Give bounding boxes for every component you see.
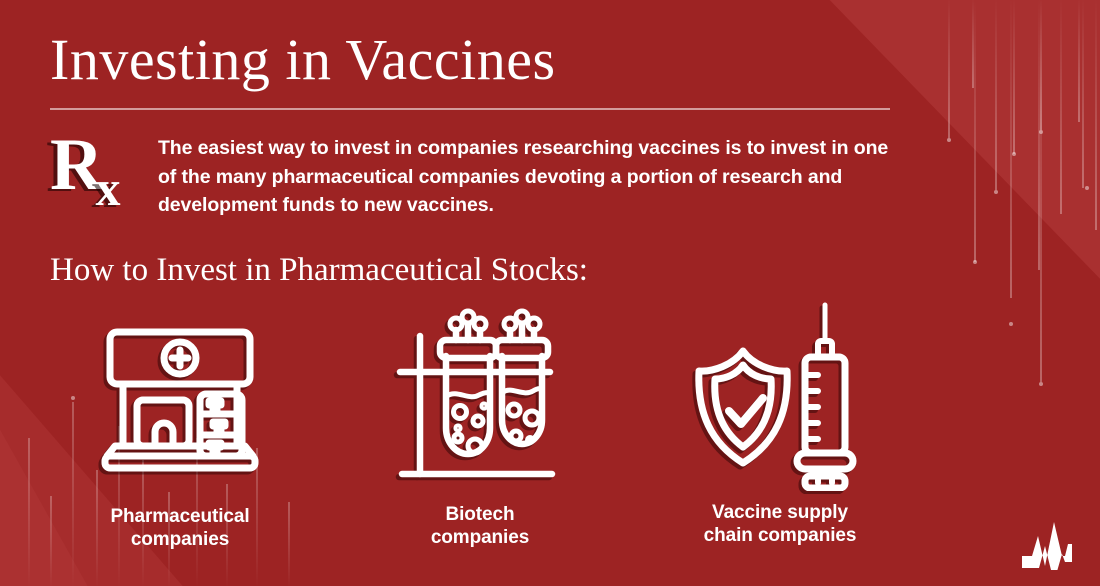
decor-line	[974, 0, 976, 262]
decor-dot	[1009, 322, 1013, 326]
decor-line	[1010, 0, 1012, 298]
test-tubes-rack-icon	[390, 300, 570, 490]
rx-prescription-icon: Rx	[50, 134, 136, 226]
section-heading: How to Invest in Pharmaceutical Stocks:	[50, 252, 588, 289]
card-vaccine-supply-chain-companies: Vaccine supply chain companies	[630, 300, 930, 552]
rx-glyph: Rx	[50, 128, 128, 202]
card-label: Pharmaceutical companies	[110, 506, 249, 552]
decor-line	[1078, 0, 1080, 122]
card-label: Biotech companies	[431, 504, 529, 550]
decor-dot	[1012, 152, 1016, 156]
decor-line	[1013, 0, 1015, 154]
decor-dot	[1039, 382, 1043, 386]
rx-letter-x: x	[95, 163, 120, 213]
decor-dot	[973, 260, 977, 264]
decor-line	[948, 0, 950, 138]
decor-line	[1040, 0, 1042, 382]
decor-dot	[994, 190, 998, 194]
pharmacy-storefront-icon	[95, 300, 265, 490]
decor-line	[972, 0, 974, 88]
decor-dot	[1085, 186, 1089, 190]
card-biotech-companies: Biotech companies	[330, 300, 630, 552]
page-title: Investing in Vaccines	[50, 28, 556, 92]
card-pharmaceutical-companies: Pharmaceutical companies	[30, 300, 330, 552]
decor-line	[1038, 0, 1040, 270]
decor-dot	[947, 138, 951, 142]
decor-line	[1040, 0, 1042, 130]
card-label: Vaccine supply chain companies	[704, 502, 857, 548]
title-divider	[50, 108, 890, 110]
decor-line	[995, 0, 997, 190]
decor-line	[1095, 0, 1097, 230]
intro-block: Rx The easiest way to invest in companie…	[50, 134, 890, 226]
investment-options-row: Pharmaceutical companies	[30, 300, 930, 552]
decor-line	[1060, 0, 1062, 214]
decor-line	[1082, 0, 1084, 188]
decor-dot	[1039, 130, 1043, 134]
infographic-canvas: Investing in Vaccines Rx The easiest way…	[0, 0, 1100, 586]
shield-check-syringe-icon	[685, 300, 875, 490]
marketbeat-logo	[1020, 516, 1078, 570]
intro-paragraph: The easiest way to invest in companies r…	[158, 134, 890, 220]
